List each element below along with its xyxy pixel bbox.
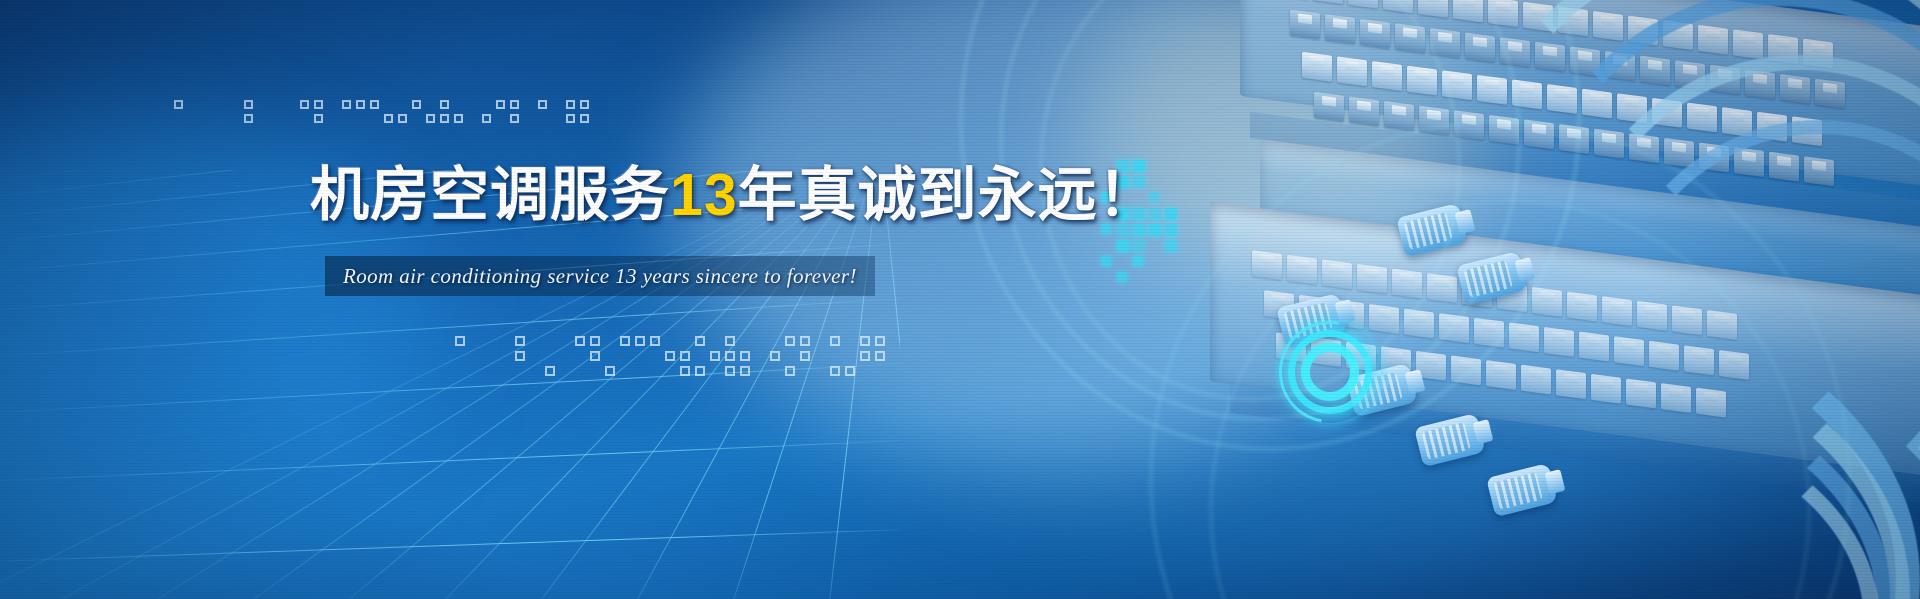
outline-square: [510, 114, 519, 123]
outline-square: [830, 336, 840, 346]
outline-square: [785, 366, 795, 376]
outline-square: [575, 336, 585, 346]
outline-square: [454, 114, 463, 123]
outline-square: [314, 100, 323, 109]
outline-square: [725, 336, 735, 346]
outline-square: [695, 366, 705, 376]
outline-square: [384, 114, 393, 123]
outline-square: [725, 351, 735, 361]
outline-square: [580, 114, 589, 123]
outline-square: [680, 366, 690, 376]
pixel-square-row-bottom: [425, 336, 905, 392]
subtitle-band: Room air conditioning service 13 years s…: [325, 256, 875, 296]
outline-square: [300, 100, 309, 109]
outline-square: [725, 366, 735, 376]
outline-square: [566, 114, 575, 123]
outline-square: [650, 336, 660, 346]
outline-square: [455, 336, 465, 346]
outline-square: [740, 351, 750, 361]
outline-square: [845, 366, 855, 376]
outline-square: [875, 336, 885, 346]
outline-square: [635, 336, 645, 346]
pixel-square: [1165, 240, 1177, 252]
outline-square: [590, 336, 600, 346]
pixel-square: [1165, 224, 1177, 236]
outline-square: [510, 100, 519, 109]
outline-square: [860, 336, 870, 346]
outline-square: [342, 100, 351, 109]
outline-square: [830, 366, 840, 376]
pixel-square: [1117, 240, 1129, 252]
outline-square: [590, 351, 600, 361]
pixel-square: [1133, 256, 1143, 266]
outline-square: [412, 100, 421, 109]
outline-square: [538, 100, 547, 109]
outline-square: [710, 351, 720, 361]
outline-square: [785, 336, 795, 346]
outline-square: [566, 100, 575, 109]
outline-square: [398, 114, 407, 123]
outline-square: [496, 100, 505, 109]
pixel-square: [1133, 240, 1145, 252]
pixel-square: [1165, 208, 1177, 220]
outline-square: [800, 351, 810, 361]
outline-square: [545, 366, 555, 376]
outline-square: [515, 351, 525, 361]
outline-square: [740, 366, 750, 376]
headline-suffix: 年真诚到永远！: [738, 162, 1158, 228]
pixel-square-row-top: [160, 100, 580, 134]
outline-square: [370, 100, 379, 109]
outline-square: [440, 100, 449, 109]
outline-square: [860, 351, 870, 361]
outline-square: [605, 366, 615, 376]
outline-square: [356, 100, 365, 109]
pixel-square: [1117, 272, 1127, 282]
outline-square: [426, 114, 435, 123]
outline-square: [174, 100, 183, 109]
outline-square: [665, 351, 675, 361]
outline-square: [875, 351, 885, 361]
outline-square: [244, 114, 253, 123]
outline-square: [680, 351, 690, 361]
outline-square: [244, 100, 253, 109]
outline-square: [314, 114, 323, 123]
outline-square: [770, 351, 780, 361]
outline-square: [620, 336, 630, 346]
page-title: 机房空调服务13年真诚到永远！: [310, 166, 1158, 225]
headline-prefix: 机房空调服务: [310, 162, 670, 228]
outline-square: [695, 336, 705, 346]
outline-square: [580, 100, 589, 109]
outline-square: [800, 336, 810, 346]
outline-square: [440, 114, 449, 123]
headline-accent-years: 13: [670, 162, 738, 228]
pixel-square: [1101, 256, 1111, 266]
outline-square: [482, 114, 491, 123]
hero-banner: 机房空调服务13年真诚到永远！ Room air conditioning se…: [0, 0, 1920, 599]
outline-square: [515, 336, 525, 346]
subtitle-text: Room air conditioning service 13 years s…: [343, 264, 857, 289]
